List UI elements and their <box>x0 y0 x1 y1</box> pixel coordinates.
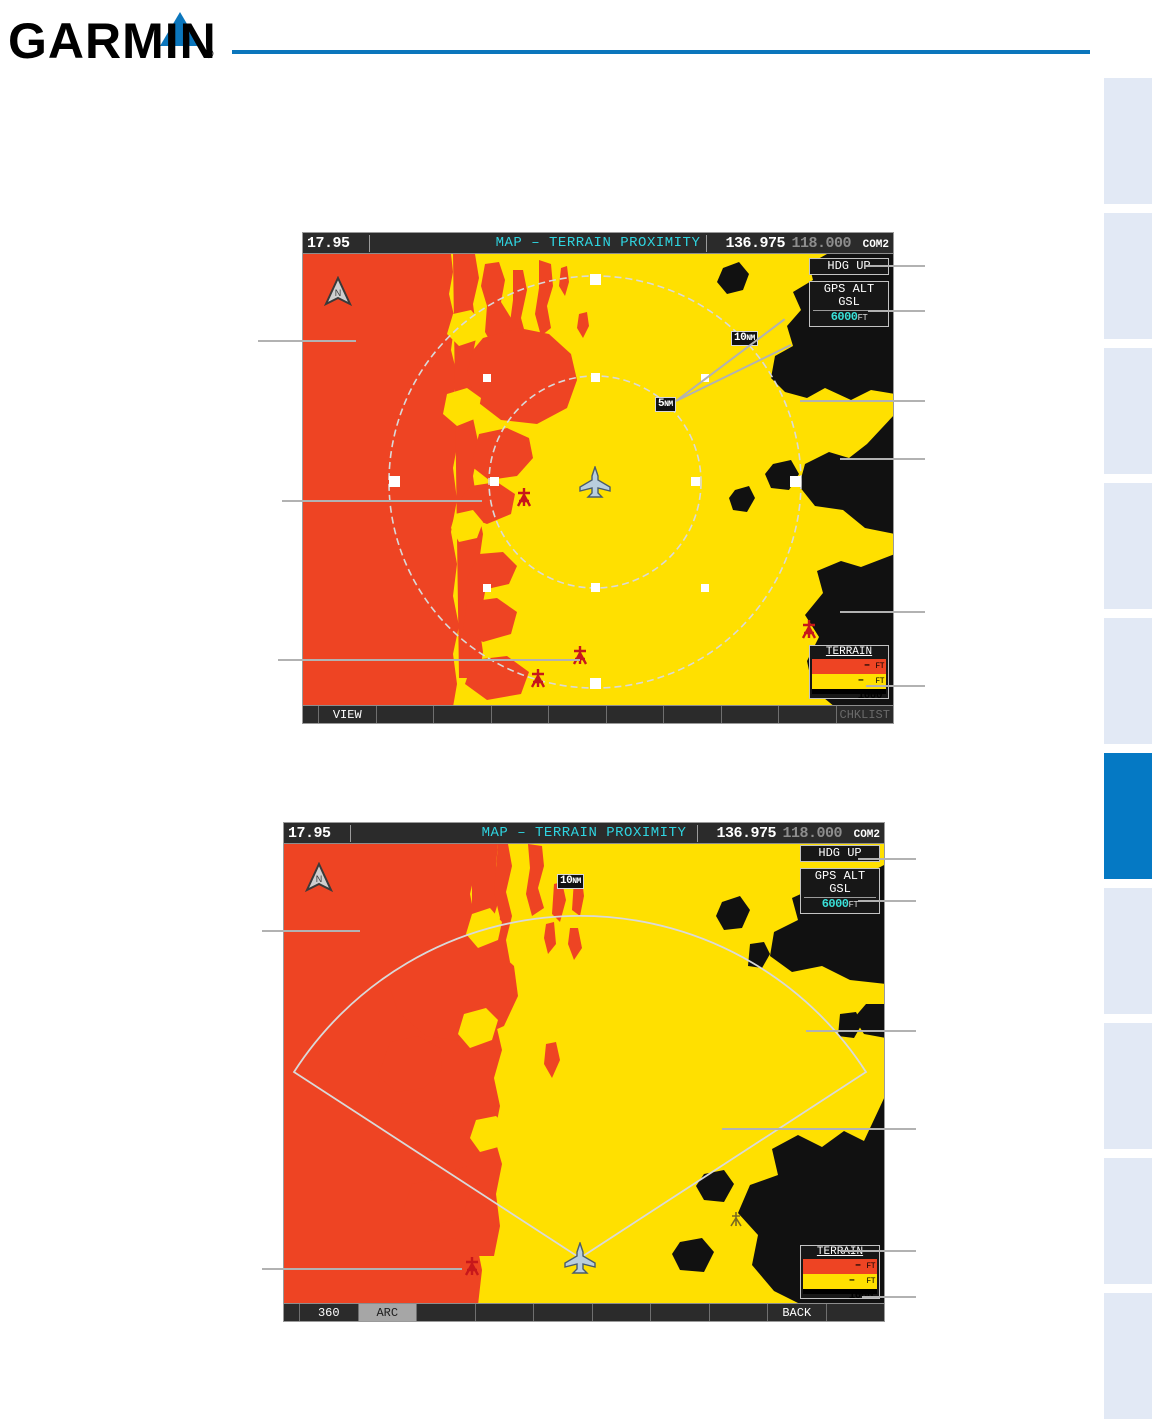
gsl-label: GSL <box>810 296 888 309</box>
leader-line-obstacle-left <box>282 500 482 502</box>
softkey-3[interactable] <box>417 1304 476 1321</box>
terrain-map-arc[interactable]: N 10NM HDG UP GPS ALT GSL 6000FT TERRAIN… <box>284 844 884 1303</box>
band-label: –1000 <box>849 1274 873 1303</box>
gps-alt-units: FT <box>849 900 859 910</box>
leader-line-terrain-legend-arc <box>862 1296 916 1298</box>
softkey-3[interactable] <box>434 706 492 723</box>
range-units: NM <box>664 400 673 409</box>
page-tab-7[interactable] <box>1104 888 1152 1014</box>
terrain-proximity-360-display: 17.95 MAP – TERRAIN PROXIMITY 136.975 11… <box>302 232 894 724</box>
range-value: 10 <box>734 332 746 344</box>
softkey-6[interactable] <box>607 706 665 723</box>
page-tab-6-active[interactable] <box>1104 753 1152 879</box>
obstacle-tower-icon <box>801 619 817 639</box>
leader-line-terrain-red-arc <box>262 930 360 932</box>
softkey-7[interactable] <box>651 1304 710 1321</box>
range-ring-label-10nm: 10NM <box>557 874 584 889</box>
display-header-bar: 17.95 MAP – TERRAIN PROXIMITY 136.975 11… <box>284 823 884 844</box>
page-tab-1[interactable] <box>1104 78 1152 204</box>
com1-frequency[interactable]: 136.975 <box>725 233 785 254</box>
page-tab-strip <box>1104 78 1152 1428</box>
terrain-legend: TERRAIN –100FT –1000FT <box>809 645 889 699</box>
aircraft-symbol-icon <box>563 1242 597 1274</box>
header-rule <box>232 50 1090 54</box>
page-tab-9[interactable] <box>1104 1158 1152 1284</box>
gps-altitude-annunciator: GPS ALT GSL 6000FT <box>809 281 889 327</box>
gps-alt-value: 6000 <box>822 897 849 911</box>
leader-line-hdg-up <box>865 265 925 267</box>
range-units: NM <box>572 877 581 886</box>
leader-line-black-region-arc <box>840 1250 916 1252</box>
gps-alt-value: 6000 <box>831 310 858 324</box>
gsl-label: GSL <box>801 883 879 896</box>
obstacle-tower-icon <box>572 645 588 665</box>
range-ring-label-10nm: 10NM <box>731 331 758 346</box>
leader-line-gps-alt <box>868 310 925 312</box>
softkey-0[interactable] <box>284 1304 300 1321</box>
obstacle-tower-icon <box>464 1256 480 1276</box>
header-divider-2 <box>697 825 698 842</box>
band-label: –1000 <box>858 674 882 704</box>
softkey-5[interactable] <box>534 1304 593 1321</box>
softkey-bar-360: VIEW CHKLIST <box>303 705 893 723</box>
softkey-arc-selected[interactable]: ARC <box>359 1304 418 1321</box>
terrain-map-360[interactable]: N 10NM 5NM HDG UP GPS ALT <box>303 254 893 705</box>
svg-text:GARMIN: GARMIN <box>8 13 217 68</box>
softkey-10[interactable] <box>827 1304 885 1321</box>
page-tab-3[interactable] <box>1104 348 1152 474</box>
softkey-bar-arc: 360 ARC BACK <box>284 1303 884 1321</box>
com2-frequency[interactable]: 118.000 <box>791 233 851 254</box>
gps-altitude-annunciator: GPS ALT GSL 6000FT <box>800 868 880 914</box>
leader-line-yellow-terrain <box>840 611 925 613</box>
leader-line-gps-alt-arc <box>858 900 916 902</box>
softkey-7[interactable] <box>664 706 722 723</box>
north-arrow-icon: N <box>323 276 353 310</box>
softkey-8[interactable] <box>710 1304 769 1321</box>
svg-text:N: N <box>316 874 323 884</box>
softkey-0[interactable] <box>303 706 319 723</box>
terrain-legend: TERRAIN –100FT –1000FT <box>800 1245 880 1299</box>
softkey-chklist[interactable]: CHKLIST <box>837 706 894 723</box>
obstacle-tower-icon <box>516 487 532 507</box>
softkey-8[interactable] <box>722 706 780 723</box>
orientation-label: HDG UP <box>818 846 861 860</box>
leader-line-black-terrain <box>840 458 925 460</box>
softkey-6[interactable] <box>593 1304 652 1321</box>
com2-frequency[interactable]: 118.000 <box>782 823 842 844</box>
terrain-legend-title: TERRAIN <box>810 646 888 659</box>
leader-line-terrain-red <box>258 340 356 342</box>
page-tab-5[interactable] <box>1104 618 1152 744</box>
leader-line-black-terrain-arc <box>806 1030 916 1032</box>
leader-line-obstacle-bottom <box>278 659 580 661</box>
svg-text:®: ® <box>204 46 214 61</box>
leader-line-hdg-up-arc <box>858 858 916 860</box>
softkey-view[interactable]: VIEW <box>319 706 377 723</box>
header-divider-2 <box>706 235 707 252</box>
terrain-legend-band-red: –100FT <box>803 1259 877 1274</box>
softkey-4[interactable] <box>476 1304 535 1321</box>
page-tab-2[interactable] <box>1104 213 1152 339</box>
page-tab-8[interactable] <box>1104 1023 1152 1149</box>
softkey-back[interactable]: BACK <box>768 1304 827 1321</box>
range-ring-label-5nm: 5NM <box>655 397 676 412</box>
page-tab-4[interactable] <box>1104 483 1152 609</box>
display-header-bar: 17.95 MAP – TERRAIN PROXIMITY 136.975 11… <box>303 233 893 254</box>
aircraft-symbol-icon <box>578 466 612 498</box>
softkey-5[interactable] <box>549 706 607 723</box>
softkey-2[interactable] <box>377 706 435 723</box>
page-tab-10[interactable] <box>1104 1293 1152 1419</box>
leader-line-obstacle-arc <box>262 1268 462 1270</box>
svg-text:N: N <box>335 288 342 298</box>
obstacle-tower-icon <box>530 668 546 688</box>
garmin-logo: GARMIN ® <box>8 6 228 66</box>
range-value: 10 <box>560 875 572 887</box>
gps-alt-units: FT <box>858 313 868 323</box>
softkey-360[interactable]: 360 <box>300 1304 359 1321</box>
com1-frequency[interactable]: 136.975 <box>716 823 776 844</box>
softkey-9[interactable] <box>779 706 837 723</box>
terrain-legend-title: TERRAIN <box>801 1246 879 1259</box>
terrain-proximity-arc-display: 17.95 MAP – TERRAIN PROXIMITY 136.975 11… <box>283 822 885 1322</box>
leader-line-yellow-terrain-arc <box>722 1128 916 1130</box>
terrain-legend-band-yellow: –1000FT <box>803 1274 877 1289</box>
north-arrow-icon: N <box>304 862 334 896</box>
softkey-4[interactable] <box>492 706 550 723</box>
gps-alt-value-row: 6000FT <box>810 311 888 325</box>
leader-line-range-rings <box>800 400 925 402</box>
terrain-legend-band-red: –100FT <box>812 659 886 674</box>
leader-line-terrain-legend <box>866 685 925 687</box>
